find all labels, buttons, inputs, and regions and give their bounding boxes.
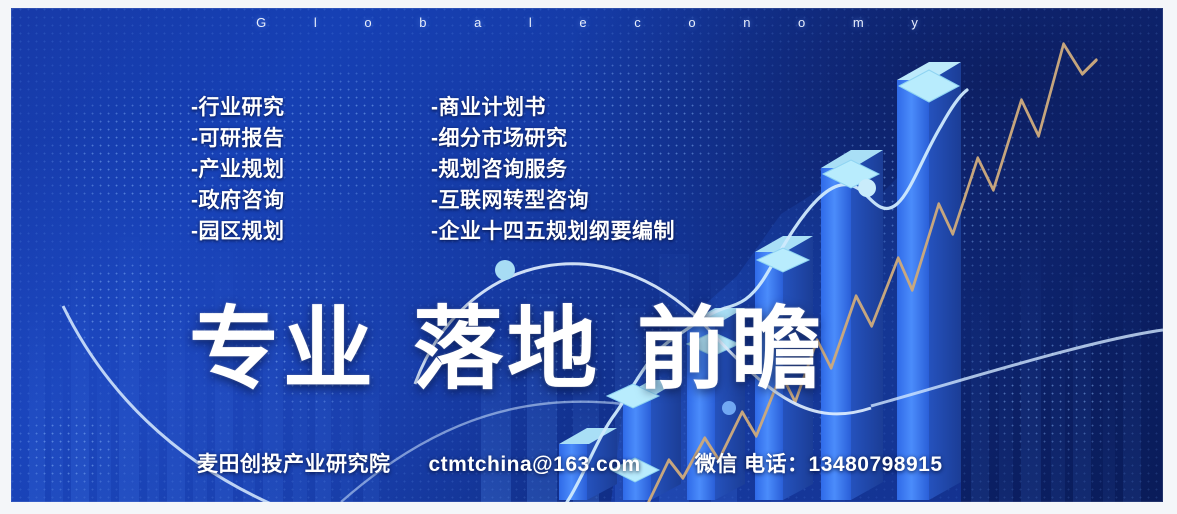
services-column-right: -商业计划书 -细分市场研究 -规划咨询服务 -互联网转型咨询 -企业十四五规划… [431, 94, 675, 249]
footer-organization: 麦田创投产业研究院 [197, 448, 391, 478]
service-item: -行业研究 [191, 94, 285, 122]
footer-contact-row: 麦田创投产业研究院 ctmtchina@163.com 微信 电话：134807… [197, 448, 943, 478]
footer-contact-phone: 微信 电话：13480798915 [695, 448, 943, 478]
chart-bar-6 [897, 62, 961, 500]
chart-node-dot [858, 179, 876, 197]
slogan-word-1: 专业 [189, 300, 377, 400]
chart-node-dot-2 [722, 401, 736, 415]
footer-email: ctmtchina@163.com [429, 453, 641, 477]
swoosh-marker-dot [495, 260, 515, 280]
service-item: -企业十四五规划纲要编制 [431, 218, 675, 246]
service-item: -互联网转型咨询 [431, 187, 675, 215]
economy-chart-graphic [11, 8, 1163, 502]
service-item: -产业规划 [191, 156, 285, 184]
slogan-headline: 专业落地前瞻 [189, 302, 825, 398]
slogan-word-3: 前瞻 [637, 300, 825, 400]
service-item: -园区规划 [191, 218, 285, 246]
service-item: -规划咨询服务 [431, 156, 675, 184]
marketing-banner: G l o b a l e c o n o m y -行业研究 -可研报告 -产… [0, 0, 1177, 514]
kicker-global-economy: G l o b a l e c o n o m y [11, 10, 1163, 36]
slogan-word-2: 落地 [413, 300, 601, 400]
services-column-left: -行业研究 -可研报告 -产业规划 -政府咨询 -园区规划 [191, 94, 285, 249]
service-item: -商业计划书 [431, 94, 675, 122]
poster-canvas: G l o b a l e c o n o m y -行业研究 -可研报告 -产… [11, 8, 1163, 502]
service-item: -政府咨询 [191, 187, 285, 215]
service-item: -细分市场研究 [431, 125, 675, 153]
service-item: -可研报告 [191, 125, 285, 153]
